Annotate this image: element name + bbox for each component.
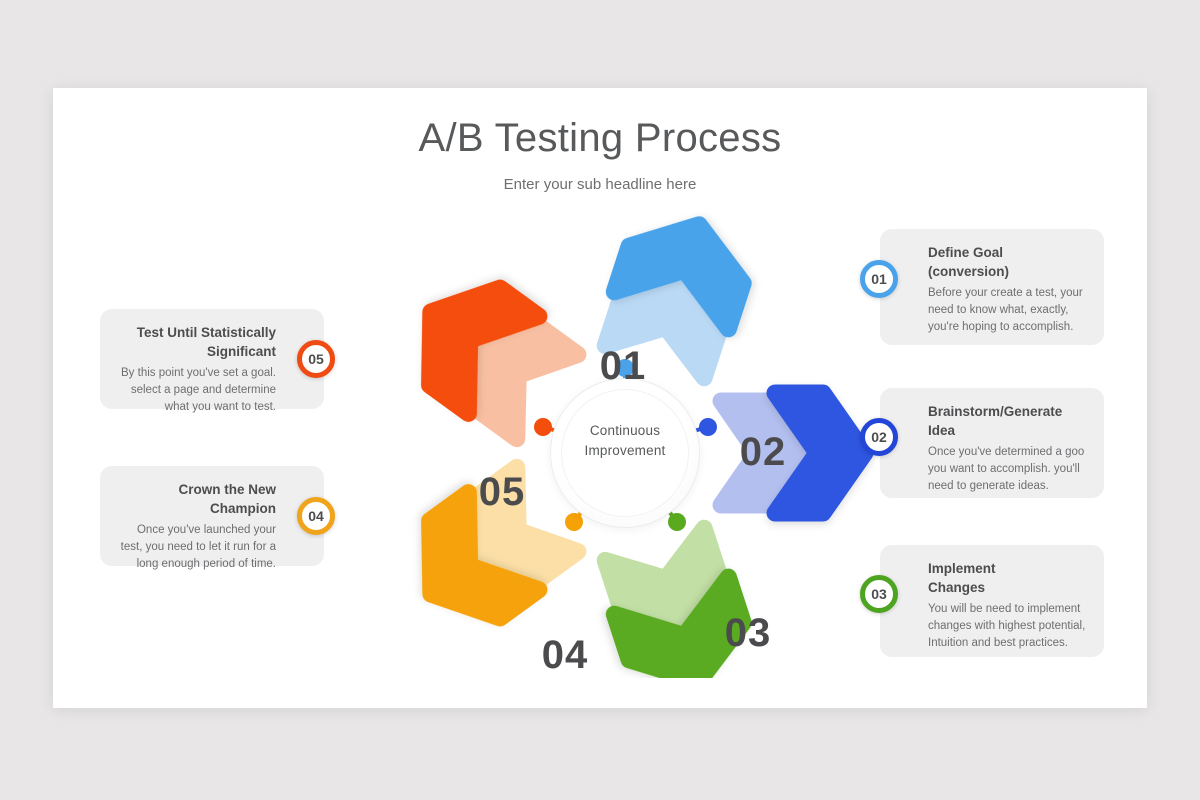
step-card-03[interactable]: Implement Changes You will be need to im…	[880, 545, 1104, 657]
step-card-02-body: Once you've determined a goo you want to…	[928, 444, 1086, 494]
step-card-02-title-line2: Idea	[928, 422, 1086, 441]
hub-label-line2: Improvement	[561, 441, 689, 461]
step-badge-04[interactable]: 04	[297, 497, 335, 535]
step-card-05-title-line1: Test Until Statistically	[118, 324, 276, 343]
step-card-04[interactable]: Crown the New Champion Once you've launc…	[100, 466, 324, 566]
arrow-number-02: 02	[713, 430, 813, 475]
connector-dot-05	[534, 418, 552, 436]
connector-dot-03	[668, 513, 686, 531]
step-card-05-title-line2: Significant	[118, 343, 276, 362]
step-card-05[interactable]: Test Until Statistically Significant By …	[100, 309, 324, 409]
step-card-03-body: You will be need to implement changes wi…	[928, 601, 1086, 651]
step-badge-01[interactable]: 01	[860, 260, 898, 298]
step-card-01-title-line2: (conversion)	[928, 263, 1086, 282]
step-card-02-title: Brainstorm/Generate Idea	[928, 403, 1086, 440]
step-card-03-title: Implement Changes	[928, 560, 1086, 597]
hub-label: Continuous Improvement	[561, 421, 689, 460]
step-card-02[interactable]: Brainstorm/Generate Idea Once you've det…	[880, 388, 1104, 498]
step-badge-02[interactable]: 02	[860, 418, 898, 456]
arrow-number-04: 04	[515, 633, 615, 678]
step-badge-03[interactable]: 03	[860, 575, 898, 613]
step-card-02-title-line1: Brainstorm/Generate	[928, 403, 1086, 422]
step-card-05-title: Test Until Statistically Significant	[118, 324, 276, 361]
hub-label-line1: Continuous	[561, 421, 689, 441]
step-card-04-title-line2: Champion	[118, 500, 276, 519]
arrow-number-05: 05	[452, 470, 552, 515]
step-card-01-title: Define Goal (conversion)	[928, 244, 1086, 281]
process-wheel: Continuous Improvement 01 02 03 04 05	[375, 208, 875, 678]
arrow-number-01: 01	[573, 344, 673, 389]
step-card-01-title-line1: Define Goal	[928, 244, 1086, 263]
page-title: A/B Testing Process	[53, 116, 1147, 160]
connector-dot-04	[565, 513, 583, 531]
arrow-step-05[interactable]	[396, 263, 583, 445]
step-card-04-title-line1: Crown the New	[118, 481, 276, 500]
step-badge-05[interactable]: 05	[297, 340, 335, 378]
step-card-05-body: By this point you've set a goal. select …	[118, 365, 276, 415]
step-card-04-body: Once you've launched your test, you need…	[118, 522, 276, 572]
step-card-01-body: Before your create a test, your need to …	[928, 285, 1086, 335]
step-card-03-title-line1: Implement	[928, 560, 1086, 579]
page-subtitle: Enter your sub headline here	[53, 176, 1147, 193]
arrow-number-03: 03	[698, 611, 798, 656]
step-card-03-title-line2: Changes	[928, 579, 1086, 598]
slide-canvas: A/B Testing Process Enter your sub headl…	[53, 88, 1147, 708]
step-card-04-title: Crown the New Champion	[118, 481, 276, 518]
slide-header: A/B Testing Process Enter your sub headl…	[53, 116, 1147, 193]
step-card-01[interactable]: Define Goal (conversion) Before your cre…	[880, 229, 1104, 345]
